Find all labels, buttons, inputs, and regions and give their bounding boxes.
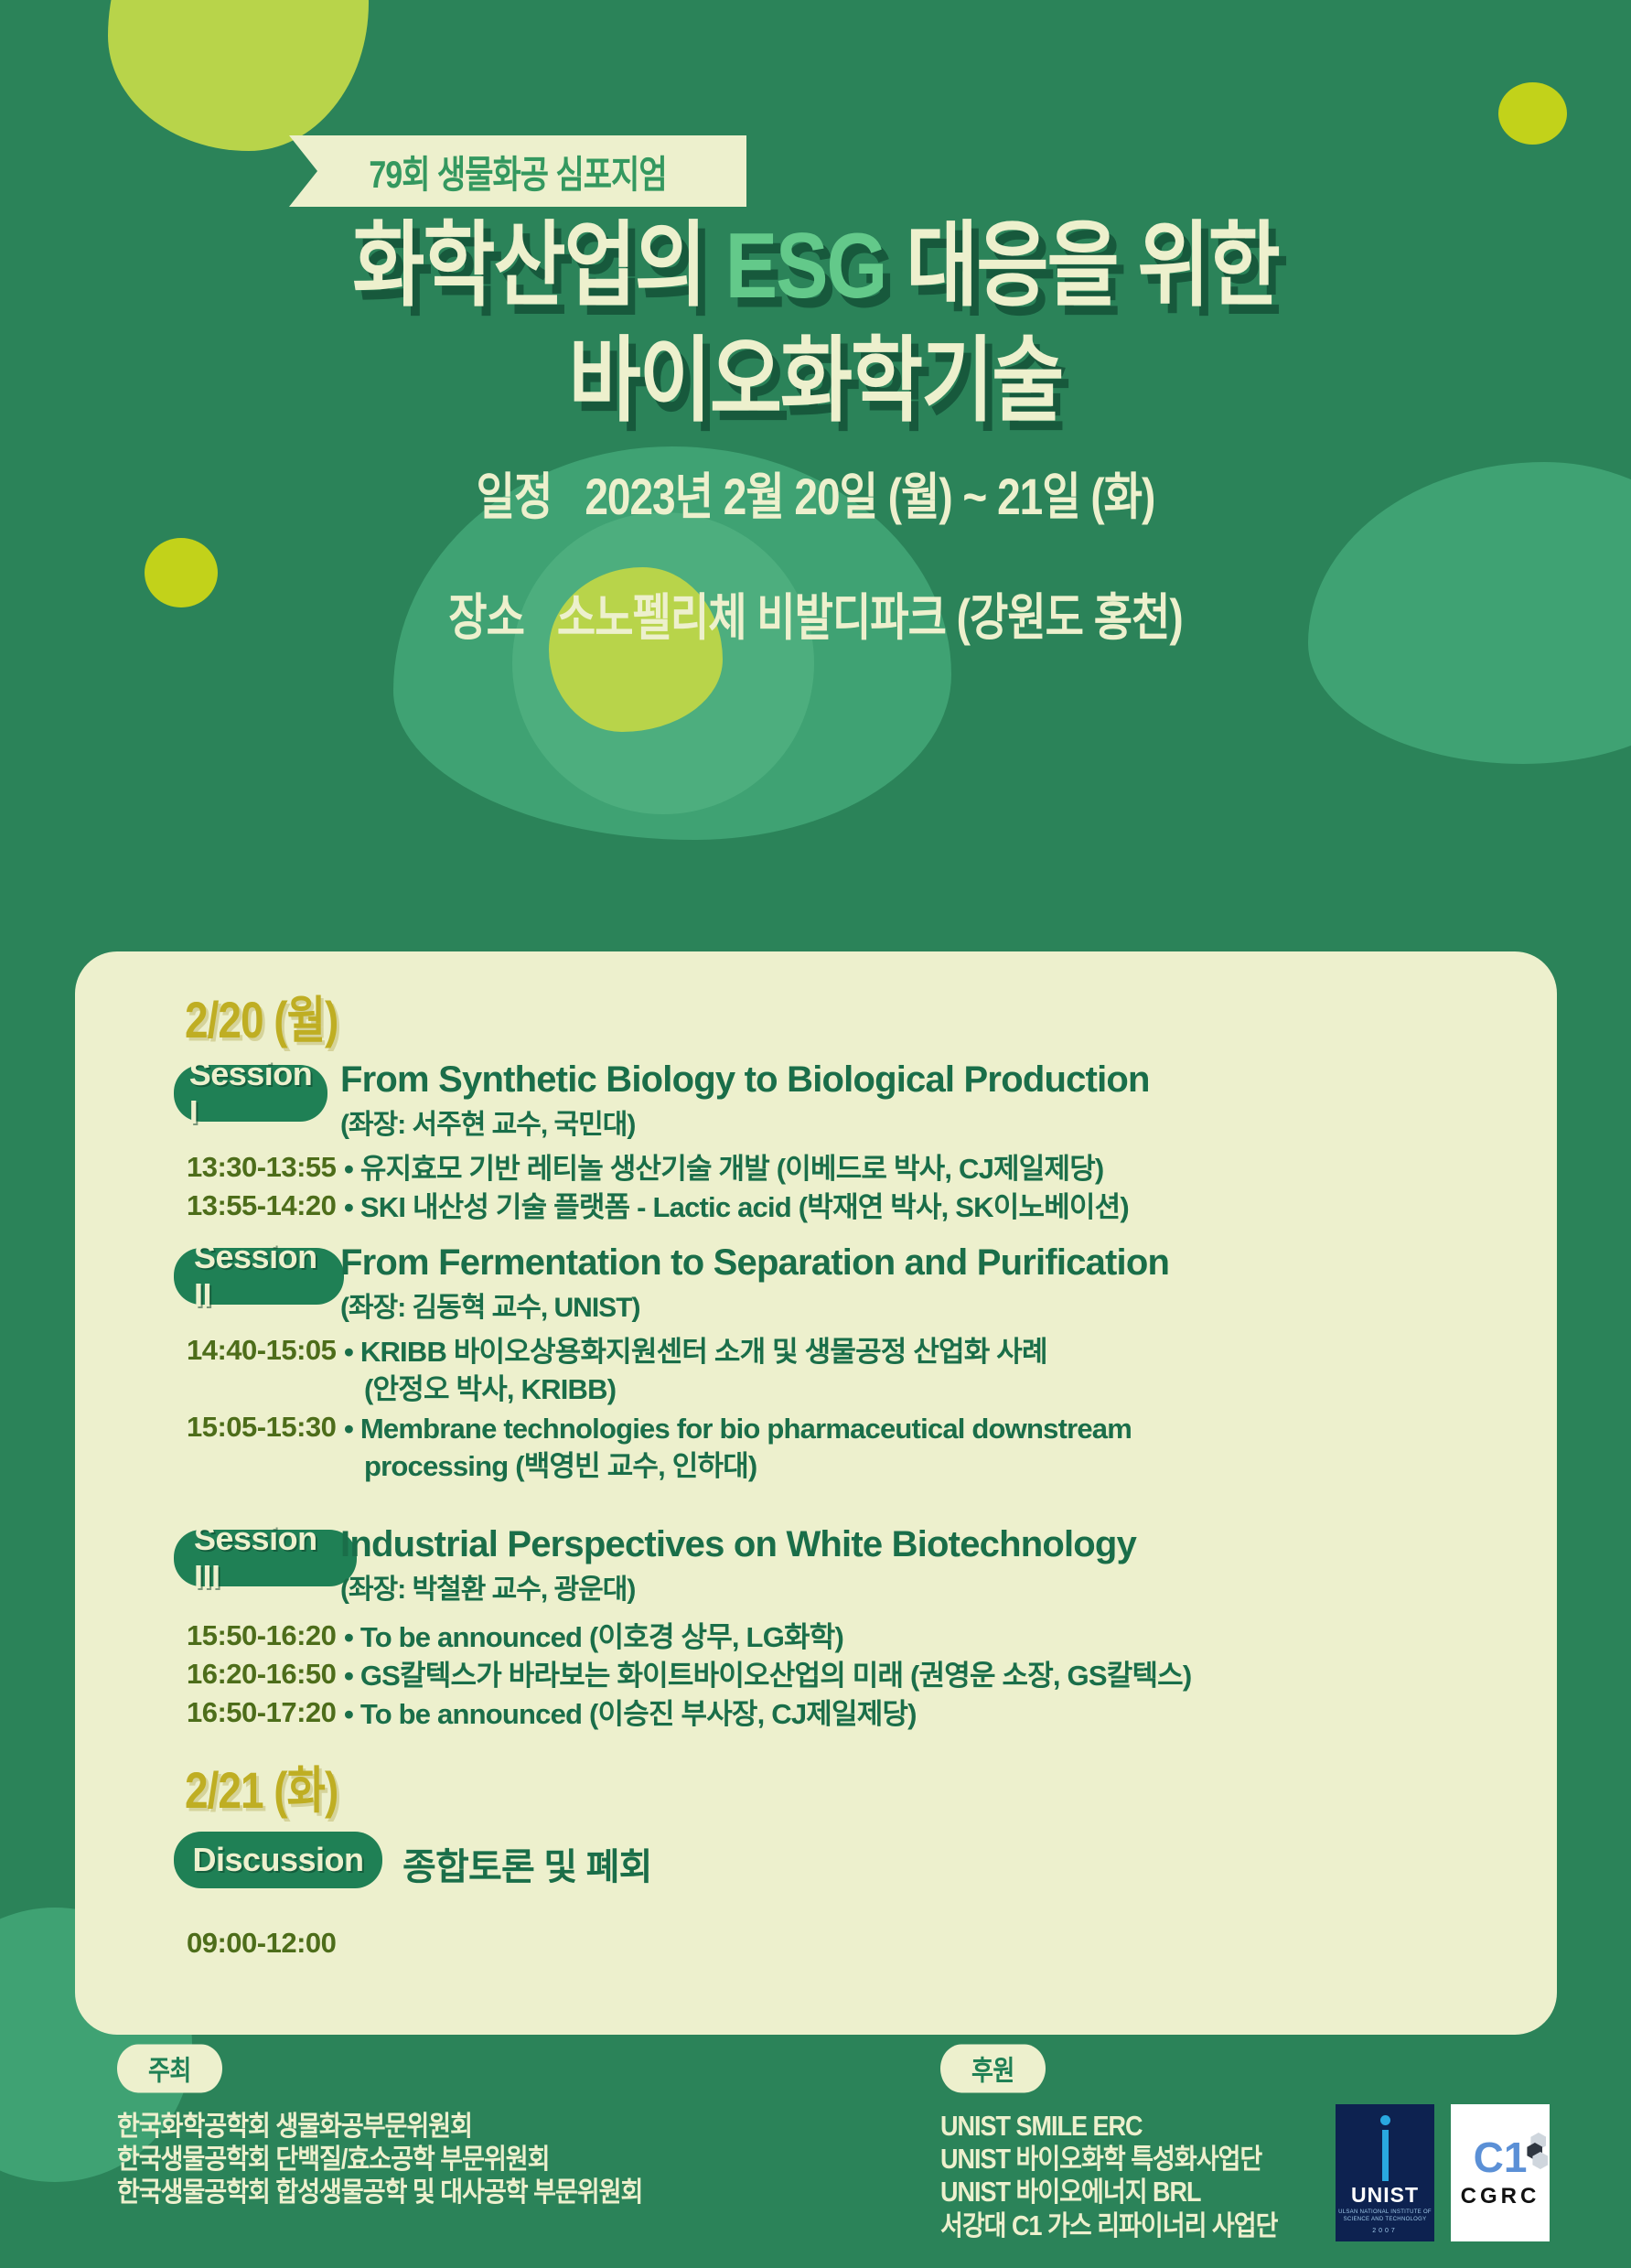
slot-time: 13:55-14:20 <box>187 1189 336 1222</box>
slot-desc-main: • Membrane technologies for bio pharmace… <box>344 1413 1132 1445</box>
ribbon-banner: 79회 생물화공 심포지엄 <box>0 135 1631 220</box>
session-pill-3: Session III <box>174 1530 357 1586</box>
organizer-item: 한국생물공학회 합성생물공학 및 대사공학 부문위원회 <box>117 2174 642 2211</box>
program-card: 2/20 (월) 2/21 (화) Session I From Synthet… <box>75 951 1557 2035</box>
session-chair-1: (좌장: 서주현 교수, 국민대) <box>340 1102 635 1142</box>
cgrc-logo-icon: C1 CGRC <box>1451 2104 1550 2241</box>
venue-value: 소노펠리체 비발디파크 (강원도 홍천) <box>557 588 1183 645</box>
sponsor-column: 후원 UNIST SMILE ERC UNIST 바이오화학 특성화사업단 UN… <box>940 2048 1277 2242</box>
slot-desc: • To be announced (이승진 부사장, CJ제일제당) <box>344 1696 1502 1734</box>
session-chair-3: (좌장: 박철환 교수, 광운대) <box>340 1566 635 1607</box>
venue-row: 장소소노펠리체 비발디파크 (강원도 홍천) <box>0 577 1631 650</box>
event-info: 일정2023년 2월 20일 (월) ~ 21일 (화) 장소소노펠리체 비발디… <box>0 403 1631 644</box>
discussion-title: 종합토론 및 폐회 <box>402 1837 652 1890</box>
slot-desc-main: • KRIBB 바이오상용화지원센터 소개 및 생물공정 산업화 사례 <box>344 1336 1047 1368</box>
sponsor-logos: UNIST ULSAN NATIONAL INSTITUTE OF SCIENC… <box>1336 2104 1550 2241</box>
title-line-1: 화학산업의 ESG 대응을 위한 <box>0 213 1631 321</box>
slot-desc-cont: processing (백영빈 교수, 인하대) <box>344 1448 1502 1486</box>
slot-time: 15:05-15:30 <box>187 1411 336 1444</box>
page-title: 화학산업의 ESG 대응을 위한 바이오화학기술 <box>0 221 1631 428</box>
session-pill-2: Session II <box>174 1248 344 1305</box>
date-row: 일정2023년 2월 20일 (월) ~ 21일 (화) <box>0 457 1631 529</box>
unist-logo-name: UNIST <box>1351 2185 1419 2206</box>
cgrc-logo-mark: C1 <box>1474 2136 1528 2178</box>
date-label: 일정 <box>477 468 553 524</box>
slot-time: 09:00-12:00 <box>187 1927 336 1960</box>
organizer-column: 주최 한국화학공학회 생물화공부문위원회 한국생물공학회 단백질/효소공학 부문… <box>117 2048 642 2209</box>
sponsor-badge: 후원 <box>940 2045 1046 2093</box>
ribbon-shape: 79회 생물화공 심포지엄 <box>289 135 746 207</box>
day-label-1: 2/20 (월) <box>185 980 338 1052</box>
slot-desc: • KRIBB 바이오상용화지원센터 소개 및 생물공정 산업화 사례(안정오 … <box>344 1334 1502 1409</box>
venue-label: 장소 <box>448 588 524 645</box>
slot-time: 16:50-17:20 <box>187 1696 336 1729</box>
slot-desc: • 유지효모 기반 레티놀 생산기술 개발 (이베드로 박사, CJ제일제당) <box>344 1151 1502 1188</box>
title-line1-after: 대응을 위한 <box>885 214 1278 317</box>
cgrc-logo-mark-text: C1 <box>1474 2134 1528 2181</box>
ribbon-label: 79회 생물화공 심포지엄 <box>369 144 666 199</box>
sponsor-item: 서강대 C1 가스 리파이너리 사업단 <box>940 2207 1277 2244</box>
slot-desc-cont: (안정오 박사, KRIBB) <box>344 1371 1502 1409</box>
sponsor-list: UNIST SMILE ERC UNIST 바이오화학 특성화사업단 UNIST… <box>940 2110 1277 2242</box>
slot-desc: • Membrane technologies for bio pharmace… <box>344 1411 1502 1486</box>
date-value: 2023년 2월 20일 (월) ~ 21일 (화) <box>585 468 1154 524</box>
unist-logo-icon: UNIST ULSAN NATIONAL INSTITUTE OF SCIENC… <box>1336 2104 1434 2241</box>
slot-time: 13:30-13:55 <box>187 1151 336 1184</box>
session-chair-2: (좌장: 김동혁 교수, UNIST) <box>340 1284 640 1325</box>
decorative-blob-top-left <box>108 0 369 151</box>
slot-desc: • SKI 내산성 기술 플랫폼 - Lactic acid (박재연 박사, … <box>344 1189 1502 1227</box>
session-title-2: From Fermentation to Separation and Puri… <box>340 1242 1169 1284</box>
day-label-2: 2/21 (화) <box>185 1750 338 1822</box>
poster-root: 79회 생물화공 심포지엄 화학산업의 ESG 대응을 위한 바이오화학기술 일… <box>0 0 1631 2268</box>
discussion-pill: Discussion <box>174 1832 382 1888</box>
session-pill-1: Session I <box>174 1065 327 1122</box>
slot-time: 14:40-15:05 <box>187 1334 336 1367</box>
cgrc-logo-name: CGRC <box>1461 2184 1540 2209</box>
title-esg-highlight: ESG <box>725 214 886 317</box>
unist-logo-subtitle: ULSAN NATIONAL INSTITUTE OF SCIENCE AND … <box>1336 2209 1434 2224</box>
title-line1-before: 화학산업의 <box>352 214 725 317</box>
organizer-list: 한국화학공학회 생물화공부문위원회 한국생물공학회 단백질/효소공학 부문위원회… <box>117 2110 642 2209</box>
sponsor-item: UNIST 바이오에너지 BRL <box>940 2174 1277 2211</box>
session-title-3: Industrial Perspectives on White Biotech… <box>340 1524 1136 1565</box>
slot-desc: • To be announced (이호경 상무, LG화학) <box>344 1619 1502 1657</box>
slot-time: 15:50-16:20 <box>187 1619 336 1652</box>
slot-time: 16:20-16:50 <box>187 1658 336 1691</box>
unist-logo-bar <box>1382 2130 1389 2181</box>
organizer-item: 한국생물공학회 단백질/효소공학 부문위원회 <box>117 2141 642 2178</box>
organizer-badge: 주최 <box>117 2045 222 2093</box>
sponsor-item: UNIST SMILE ERC <box>940 2108 1277 2145</box>
session-title-1: From Synthetic Biology to Biological Pro… <box>340 1059 1150 1101</box>
hexagon-icon <box>1523 2133 1551 2169</box>
slot-desc: • GS칼텍스가 바라보는 화이트바이오산업의 미래 (권영운 소장, GS칼텍… <box>344 1658 1502 1695</box>
unist-logo-dot <box>1380 2115 1390 2125</box>
organizer-item: 한국화학공학회 생물화공부문위원회 <box>117 2108 642 2145</box>
footer: 주최 한국화학공학회 생물화공부문위원회 한국생물공학회 단백질/효소공학 부문… <box>0 2048 1631 2268</box>
sponsor-item: UNIST 바이오화학 특성화사업단 <box>940 2141 1277 2178</box>
unist-logo-year: 2007 <box>1372 2228 1398 2234</box>
